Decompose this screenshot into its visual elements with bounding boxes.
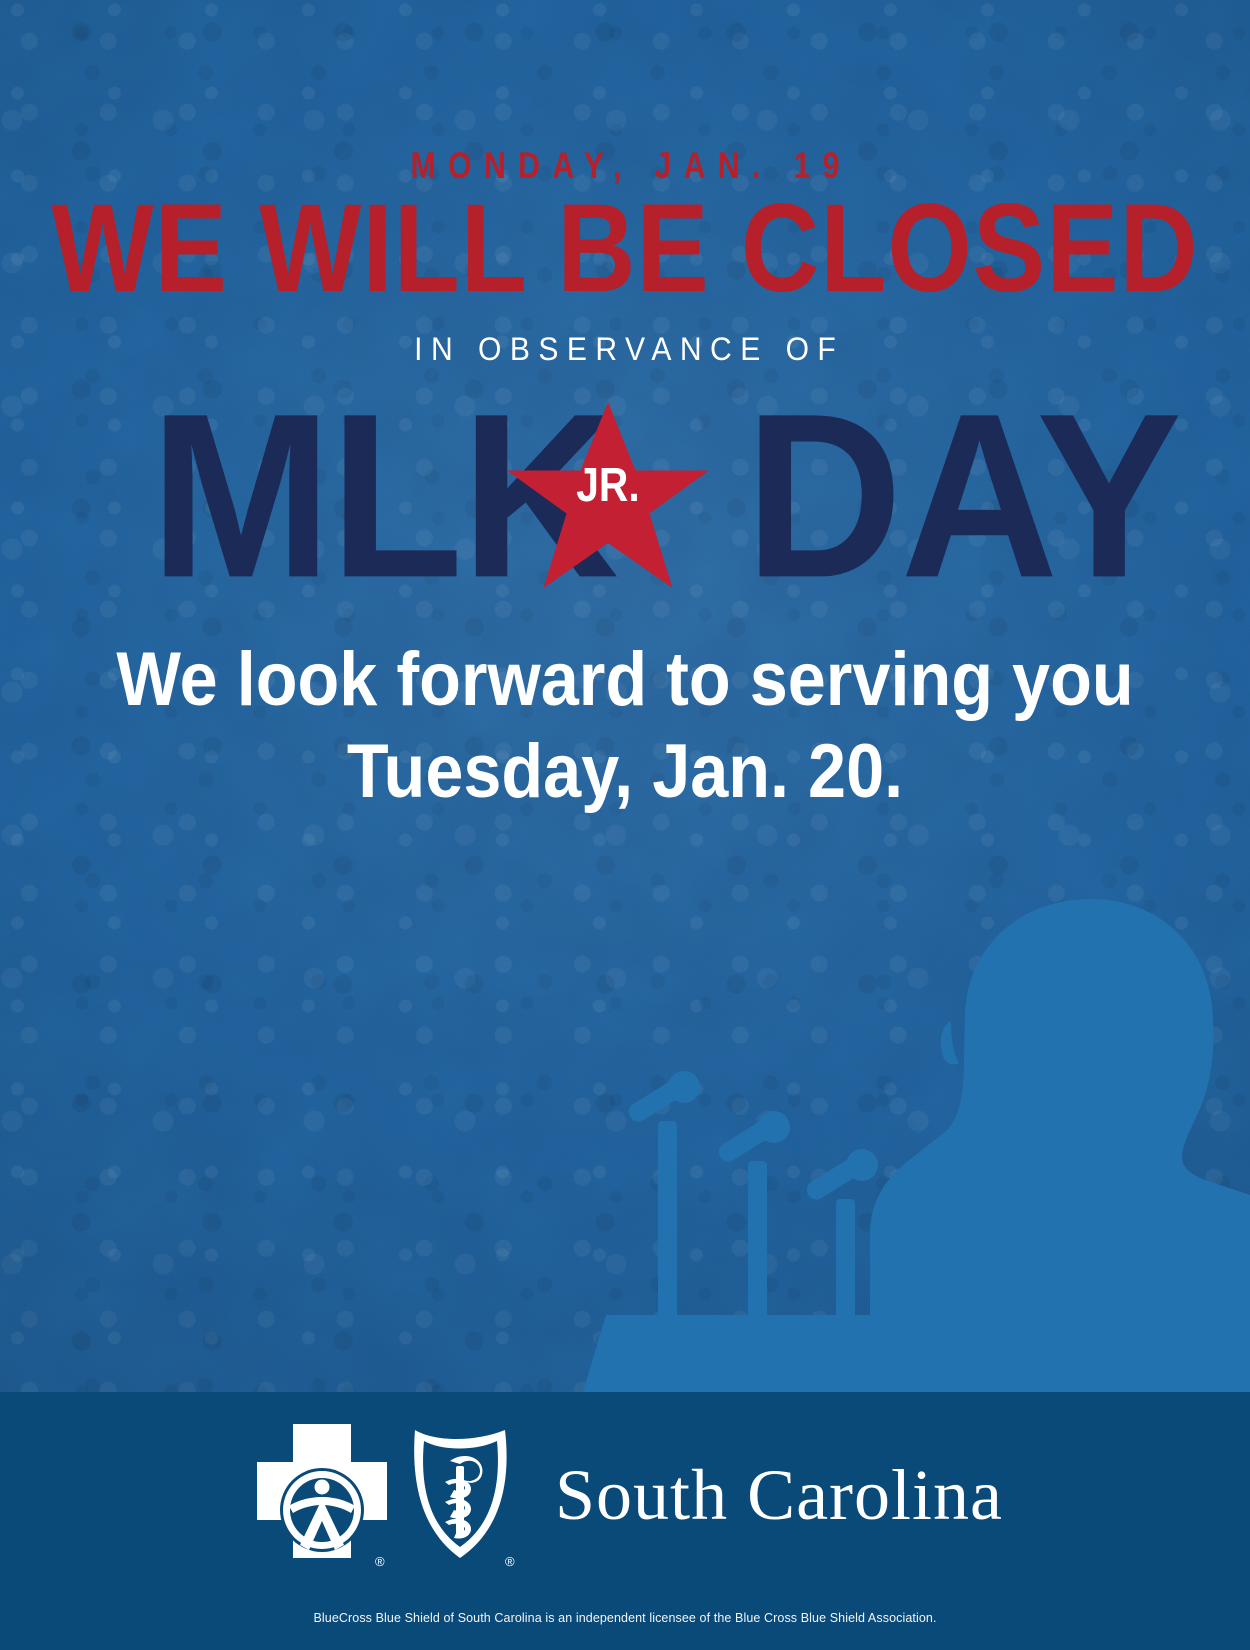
submessage-line-2: Tuesday, Jan. 20. [63, 726, 1188, 818]
submessage: We look forward to serving you Tuesday, … [63, 634, 1188, 818]
headline-closed: WE WILL BE CLOSED [50, 184, 1200, 313]
blue-shield-icon: ® [405, 1420, 525, 1570]
mlk-day-closed-poster: MONDAY, JAN. 19 WE WILL BE CLOSED IN OBS… [0, 0, 1250, 1650]
blue-cross-icon: ® [247, 1420, 387, 1570]
legal-disclaimer: BlueCross Blue Shield of South Carolina … [0, 1610, 1250, 1626]
holiday-suffix: DAY [745, 384, 1180, 608]
mlk-podium-silhouette [570, 795, 1250, 1395]
star-badge: JR. [505, 398, 711, 594]
svg-text:®: ® [375, 1554, 385, 1569]
brand-name: South Carolina [555, 1457, 1003, 1533]
observance-label: IN OBSERVANCE OF [38, 330, 1213, 368]
submessage-line-1: We look forward to serving you [63, 634, 1188, 726]
svg-text:®: ® [505, 1554, 515, 1569]
star-jr-label: JR. [520, 462, 695, 510]
bcbs-sc-logo: ® ® [0, 1420, 1250, 1570]
footer-bar: ® ® [0, 1392, 1250, 1650]
